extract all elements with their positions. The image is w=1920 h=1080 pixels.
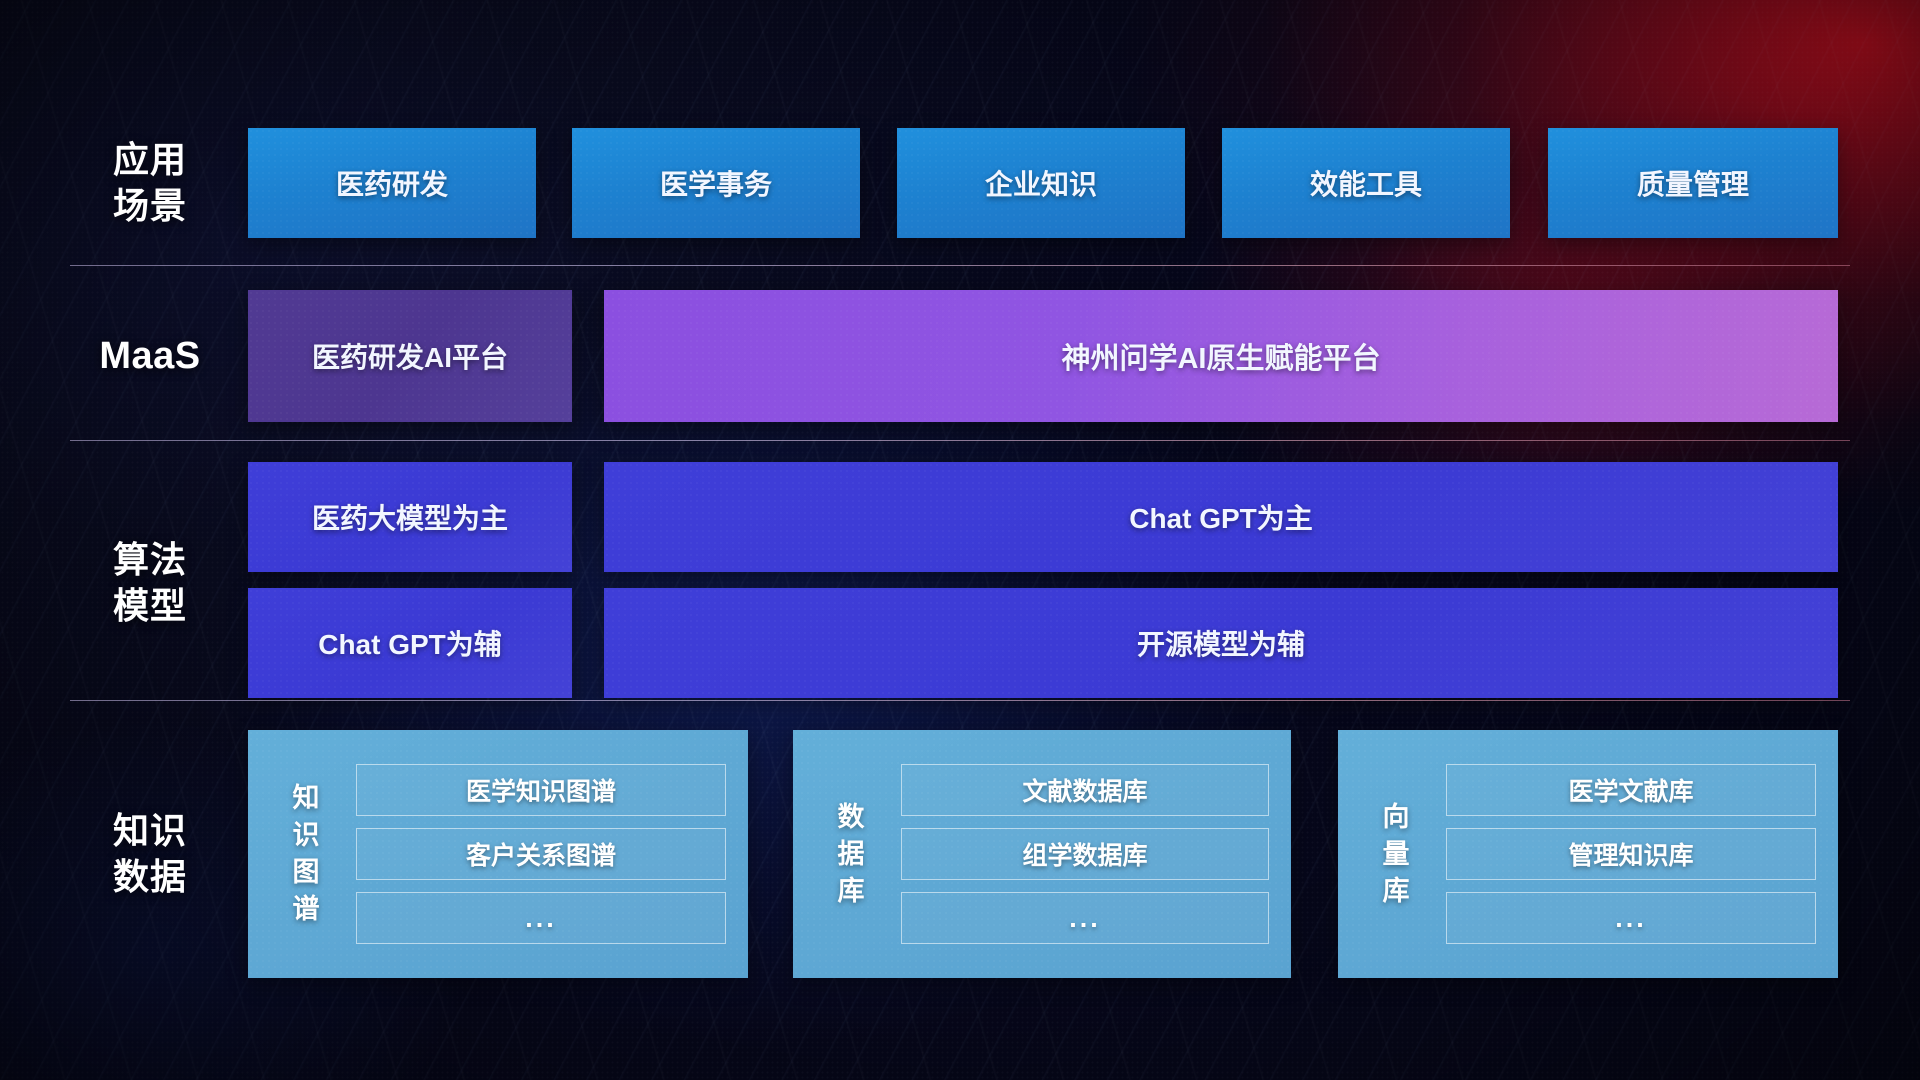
divider-maas-models: [70, 440, 1850, 441]
knowledge-group-knowledge-graph[interactable]: 知识图谱 医学知识图谱 客户关系图谱 ...: [248, 730, 748, 978]
maas-card-medicine-rd-ai-platform[interactable]: 医药研发AI平台: [248, 290, 572, 422]
app-card-enterprise-knowledge[interactable]: 企业知识: [897, 128, 1185, 238]
knowledge-group-title: 数据库: [819, 730, 883, 978]
app-card-medicine-rd[interactable]: 医药研发: [248, 128, 536, 238]
row-knowledge-data: 知识图谱 医学知识图谱 客户关系图谱 ... 数据库 文献数据库 组学数据库 .…: [0, 730, 1920, 978]
knowledge-group-title: 知识图谱: [274, 730, 338, 978]
knowledge-item[interactable]: 文献数据库: [901, 764, 1269, 816]
app-card-label: 企业知识: [985, 163, 1097, 203]
stack-diagram: 应用 场景 医药研发 医学事务 企业知识 效能工具 质量管理 MaaS 医药研发…: [0, 0, 1920, 1080]
app-card-label: 医学事务: [660, 163, 772, 203]
app-card-label: 效能工具: [1310, 163, 1422, 203]
knowledge-item[interactable]: 医学知识图谱: [356, 764, 726, 816]
knowledge-item[interactable]: 客户关系图谱: [356, 828, 726, 880]
model-card-label: 医药大模型为主: [312, 497, 508, 537]
knowledge-group-items: 文献数据库 组学数据库 ...: [883, 730, 1291, 978]
model-card-opensource-secondary[interactable]: 开源模型为辅: [604, 588, 1838, 698]
knowledge-item[interactable]: 管理知识库: [1446, 828, 1816, 880]
maas-card-shenzhou-wenxue-platform[interactable]: 神州问学AI原生赋能平台: [604, 290, 1838, 422]
row-application-scenarios: 医药研发 医学事务 企业知识 效能工具 质量管理: [0, 128, 1920, 238]
divider-models-knowledge: [70, 700, 1850, 701]
app-card-label: 质量管理: [1637, 163, 1749, 203]
knowledge-group-items: 医学文献库 管理知识库 ...: [1428, 730, 1838, 978]
knowledge-item[interactable]: 医学文献库: [1446, 764, 1816, 816]
row-maas: 医药研发AI平台 神州问学AI原生赋能平台: [0, 290, 1920, 422]
app-card-efficiency-tools[interactable]: 效能工具: [1222, 128, 1510, 238]
maas-card-label: 医药研发AI平台: [312, 336, 508, 376]
app-card-medical-affairs[interactable]: 医学事务: [572, 128, 860, 238]
knowledge-item[interactable]: 组学数据库: [901, 828, 1269, 880]
row-algorithm-models: 医药大模型为主 Chat GPT为主 Chat GPT为辅 开源模型为辅: [0, 462, 1920, 704]
app-card-quality-management[interactable]: 质量管理: [1548, 128, 1838, 238]
knowledge-item-more[interactable]: ...: [356, 892, 726, 944]
model-card-chatgpt-secondary[interactable]: Chat GPT为辅: [248, 588, 572, 698]
knowledge-item-more[interactable]: ...: [1446, 892, 1816, 944]
architecture-diagram-stage: 应用 场景 医药研发 医学事务 企业知识 效能工具 质量管理 MaaS 医药研发…: [0, 0, 1920, 1080]
maas-card-label: 神州问学AI原生赋能平台: [1061, 335, 1380, 377]
model-card-medicine-large-model-primary[interactable]: 医药大模型为主: [248, 462, 572, 572]
knowledge-group-items: 医学知识图谱 客户关系图谱 ...: [338, 730, 748, 978]
divider-apps-maas: [70, 265, 1850, 266]
model-card-label: 开源模型为辅: [1137, 623, 1305, 663]
app-card-label: 医药研发: [336, 163, 448, 203]
knowledge-group-vector-store[interactable]: 向量库 医学文献库 管理知识库 ...: [1338, 730, 1838, 978]
knowledge-group-database[interactable]: 数据库 文献数据库 组学数据库 ...: [793, 730, 1291, 978]
model-card-label: Chat GPT为主: [1129, 497, 1313, 537]
model-card-chatgpt-primary[interactable]: Chat GPT为主: [604, 462, 1838, 572]
model-card-label: Chat GPT为辅: [318, 623, 502, 663]
knowledge-item-more[interactable]: ...: [901, 892, 1269, 944]
knowledge-group-title: 向量库: [1364, 730, 1428, 978]
